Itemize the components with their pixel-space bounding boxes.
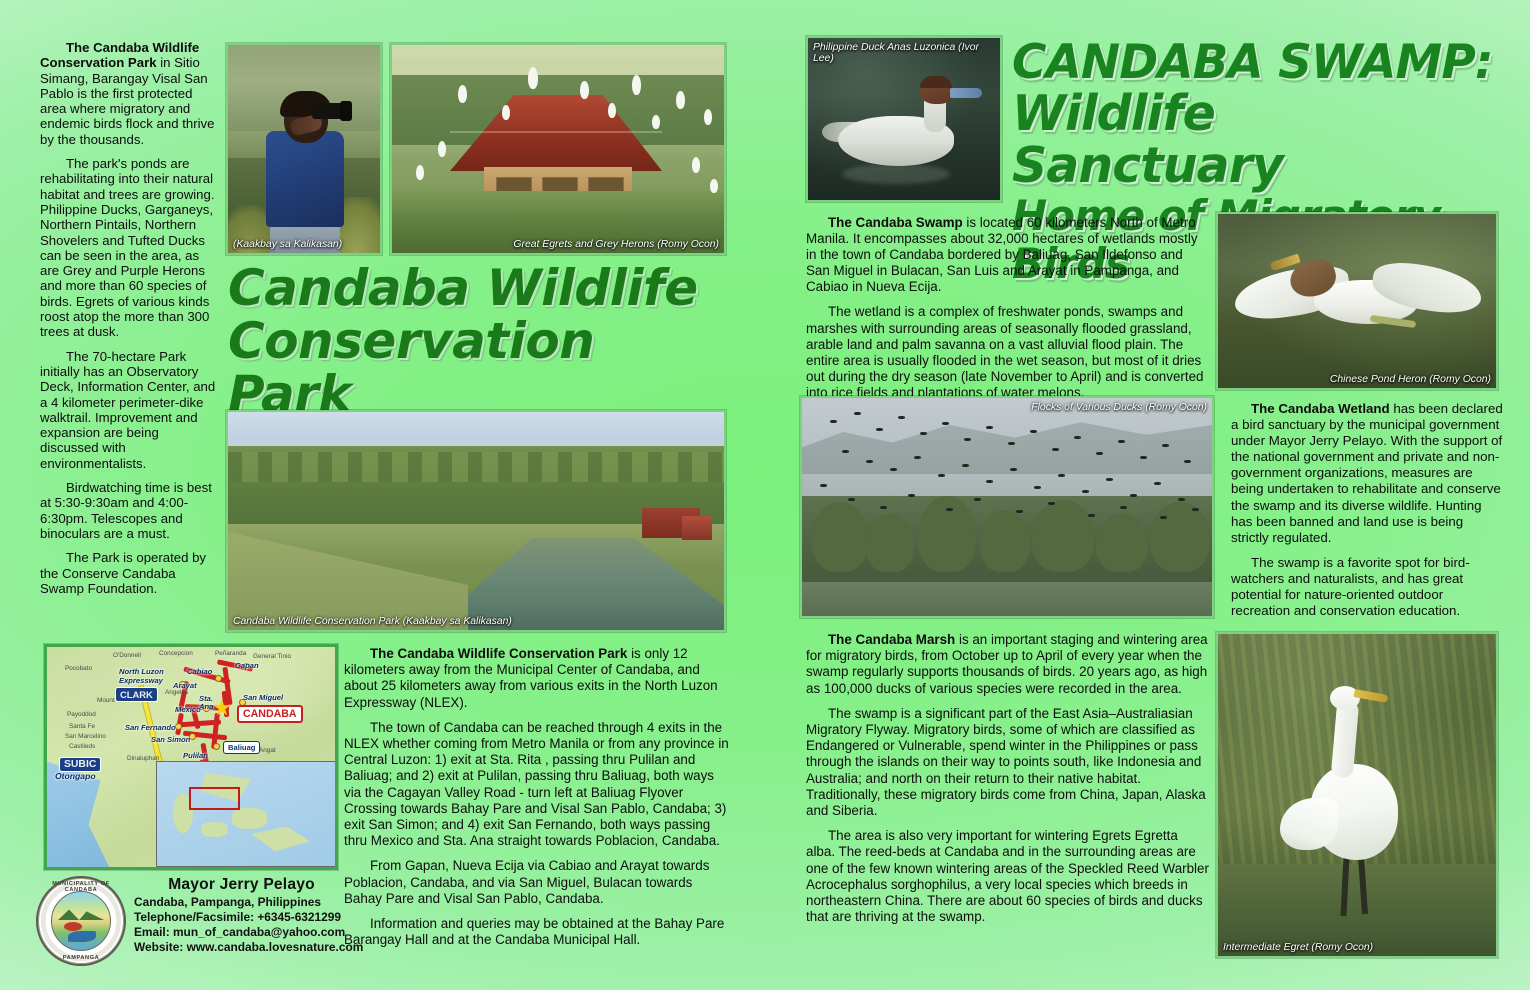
egret-bird bbox=[632, 75, 641, 95]
map-node bbox=[213, 743, 220, 750]
paragraph: The area is also very important for wint… bbox=[806, 828, 1210, 925]
map-badge-candaba: CANDABA bbox=[237, 705, 303, 723]
paragraph: Information and queries may be obtained … bbox=[344, 916, 734, 948]
paragraph-text: The park's ponds are rehabilitating into… bbox=[40, 156, 214, 339]
red-roof-building-small bbox=[682, 516, 712, 540]
paragraph: The Candaba Wildlife Conservation Park i… bbox=[344, 646, 734, 711]
inset-focus-box bbox=[189, 787, 240, 810]
tree-canopy bbox=[1150, 502, 1210, 572]
paragraph: Birdwatching time is best at 5:30-9:30am… bbox=[40, 480, 216, 541]
photo-caption: (Kaakbay sa Kalikasan) bbox=[233, 239, 375, 250]
map-label-mexico: Mexico bbox=[175, 705, 201, 714]
flying-duck bbox=[1034, 486, 1041, 489]
flying-duck bbox=[1048, 502, 1055, 505]
contact-location: Candaba, Pampanga, Philippines bbox=[134, 895, 349, 910]
map-label: Santa Fe bbox=[69, 723, 95, 730]
flying-duck bbox=[908, 494, 915, 497]
map-label-san-fernando: San Fernando bbox=[125, 723, 176, 732]
map-label-san-miguel: San Miguel bbox=[243, 693, 283, 702]
flying-duck bbox=[1088, 514, 1095, 517]
location-map[interactable]: O'Donnell Concepcion Peñaranda General T… bbox=[44, 644, 338, 870]
map-node bbox=[175, 723, 182, 730]
paragraph: The Candaba Wildlife Conservation Park i… bbox=[40, 40, 216, 147]
paragraph-text: The area is also very important for wint… bbox=[806, 828, 1209, 924]
brochure-page: The Candaba Wildlife Conservation Park i… bbox=[0, 0, 1530, 990]
tree-canopy bbox=[980, 510, 1030, 572]
map-label-gapan: Gapan bbox=[235, 661, 259, 670]
flying-duck bbox=[986, 480, 993, 483]
paragraph: The wetland is a complex of freshwater p… bbox=[806, 304, 1206, 401]
flying-duck bbox=[880, 506, 887, 509]
seal-mountains bbox=[58, 904, 104, 920]
map-badge-subic: SUBIC bbox=[59, 757, 101, 772]
flying-duck bbox=[898, 416, 905, 419]
map-label: Pocobato bbox=[65, 665, 92, 672]
paragraph-text: The 70-hectare Park initially has an Obs… bbox=[40, 349, 215, 471]
flying-duck bbox=[1120, 506, 1127, 509]
paragraph-text: Birdwatching time is best at 5:30-9:30am… bbox=[40, 480, 212, 541]
egret-bird bbox=[704, 109, 712, 125]
lead-bold: The Candaba Wetland bbox=[1251, 401, 1390, 416]
map-label-cabiao: Cabiao bbox=[187, 667, 212, 676]
flying-duck bbox=[820, 484, 827, 487]
duck-crown bbox=[920, 76, 952, 88]
egret-bird bbox=[528, 67, 538, 89]
paragraph: The swamp is a significant part of the E… bbox=[806, 706, 1210, 819]
binoculars-lens bbox=[340, 101, 352, 121]
flying-duck bbox=[1030, 430, 1037, 433]
map-label-sta-ana: Sta. Ana bbox=[199, 695, 223, 711]
flying-duck bbox=[1082, 490, 1089, 493]
directions-text: The Candaba Wildlife Conservation Park i… bbox=[344, 646, 734, 957]
title-line-1: Candaba Wildlife bbox=[228, 262, 728, 315]
flying-duck bbox=[986, 426, 993, 429]
map-label-olongapo: Otongapo bbox=[55, 771, 96, 781]
flying-duck bbox=[962, 464, 969, 467]
right-title-line-2: Wildlife Sanctuary bbox=[1012, 88, 1498, 192]
water-foreground bbox=[802, 582, 1212, 616]
flying-duck bbox=[1008, 442, 1015, 445]
map-label: Castileds bbox=[69, 743, 95, 750]
contact-email[interactable]: Email: mun_of_candaba@yahoo.com bbox=[134, 925, 349, 940]
paragraph-text: The Park is operated by the Conserve Can… bbox=[40, 550, 206, 596]
paragraph-text: From Gapan, Nueva Ecija via Cabiao and A… bbox=[344, 858, 709, 905]
boy-with-binoculars-photo: (Kaakbay sa Kalikasan) bbox=[226, 43, 382, 255]
intermediate-egret-photo: Intermediate Egret (Romy Ocon) bbox=[1216, 632, 1498, 958]
tree-canopy bbox=[1032, 500, 1094, 572]
map-label: General Tinio bbox=[253, 653, 291, 660]
marsh-migratory-text: The Candaba Marsh is an important stagin… bbox=[806, 632, 1210, 934]
philippine-duck-photo: Philippine Duck Anas Luzonica (Ivor Lee) bbox=[806, 36, 1002, 202]
seal-fish bbox=[68, 931, 96, 942]
map-label: Payoddod bbox=[67, 711, 96, 718]
tree-canopy-texture bbox=[228, 452, 724, 482]
egret-bird bbox=[710, 179, 718, 193]
philippines-inset-map bbox=[156, 761, 338, 866]
flying-duck bbox=[1058, 474, 1065, 477]
left-column-text: The Candaba Wildlife Conservation Park i… bbox=[40, 40, 216, 605]
flocks-of-ducks-photo: Flocks of Various Ducks (Romy Ocon) bbox=[800, 396, 1214, 618]
flying-duck bbox=[1010, 468, 1017, 471]
lead-bold: The Candaba Marsh bbox=[828, 632, 955, 647]
flying-duck bbox=[1130, 494, 1137, 497]
photo-caption: Great Egrets and Grey Herons (Romy Ocon) bbox=[397, 239, 719, 250]
flying-duck bbox=[876, 428, 883, 431]
map-node bbox=[215, 675, 222, 682]
wetland-sanctuary-text: The Candaba Wetland has been declared a … bbox=[1231, 401, 1503, 628]
flying-duck bbox=[1178, 498, 1185, 501]
paragraph-text: has been declared a bird sanctuary by th… bbox=[1231, 401, 1503, 545]
flying-duck bbox=[1160, 516, 1167, 519]
map-label: O'Donnell bbox=[113, 652, 141, 659]
roof-ridge bbox=[450, 131, 662, 133]
right-title-line-1: CANDABA SWAMP: bbox=[1012, 38, 1498, 88]
mayor-name: Mayor Jerry Pelayo bbox=[134, 876, 349, 894]
egret-bird bbox=[676, 91, 685, 109]
egret-bird bbox=[502, 105, 510, 120]
map-label: Concepcion bbox=[159, 650, 193, 657]
map-badge-clark: CLARK bbox=[115, 687, 158, 702]
seal-bottom-text: PAMPANGA bbox=[38, 955, 124, 961]
flying-duck bbox=[1074, 436, 1081, 439]
paragraph: The swamp is a favorite spot for bird-wa… bbox=[1231, 555, 1503, 619]
flying-duck bbox=[1106, 478, 1113, 481]
egret-bird bbox=[458, 85, 467, 103]
flying-duck bbox=[848, 498, 855, 501]
map-label: Dinaluphan bbox=[127, 755, 159, 762]
egret-bird bbox=[608, 103, 616, 118]
paragraph-text: The swamp is a significant part of the E… bbox=[806, 706, 1206, 818]
tree-canopy bbox=[866, 514, 914, 572]
flying-duck bbox=[1016, 510, 1023, 513]
swamp-description-text: The Candaba Swamp is located 60 kilomete… bbox=[806, 215, 1206, 410]
municipality-seal: MUNICIPALITY OF CANDABA PAMPANGA bbox=[36, 876, 126, 966]
nipa-hut-egrets-photo: Great Egrets and Grey Herons (Romy Ocon) bbox=[390, 43, 726, 255]
map-label-arayat: Arayat bbox=[173, 681, 197, 690]
lead-bold: The Candaba Wildlife Conservation Park bbox=[370, 646, 627, 661]
flying-duck bbox=[1118, 440, 1125, 443]
park-panorama-photo: Candaba Wildlife Conservation Park (Kaak… bbox=[226, 410, 726, 632]
paragraph: From Gapan, Nueva Ecija via Cabiao and A… bbox=[344, 858, 734, 907]
egret-bird bbox=[652, 115, 660, 129]
photo-caption: Philippine Duck Anas Luzonica (Ivor Lee) bbox=[813, 42, 995, 64]
flying-duck bbox=[1154, 482, 1161, 485]
flying-duck bbox=[914, 456, 921, 459]
contact-website[interactable]: Website: www.candaba.lovesnature.com bbox=[134, 940, 349, 955]
flying-duck bbox=[920, 432, 927, 435]
map-label: Angat bbox=[259, 747, 276, 754]
paragraph-text: Information and queries may be obtained … bbox=[344, 916, 724, 947]
flying-duck bbox=[946, 508, 953, 511]
chinese-pond-heron-photo: Chinese Pond Heron (Romy Ocon) bbox=[1216, 212, 1498, 390]
photo-caption: Candaba Wildlife Conservation Park (Kaak… bbox=[233, 616, 719, 627]
flying-duck bbox=[974, 498, 981, 501]
paragraph-text: The wetland is a complex of freshwater p… bbox=[806, 304, 1203, 399]
inset-mindanao bbox=[251, 826, 310, 851]
map-route-label-nlex-north: North Luzon Expressway bbox=[119, 667, 177, 685]
map-label: Angeles bbox=[165, 689, 188, 696]
flying-duck bbox=[964, 438, 971, 441]
seal-emblem bbox=[51, 891, 111, 951]
map-label: Peñaranda bbox=[215, 650, 246, 657]
paragraph: The 70-hectare Park initially has an Obs… bbox=[40, 349, 216, 471]
flying-duck bbox=[1052, 448, 1059, 451]
photo-caption: Chinese Pond Heron (Romy Ocon) bbox=[1223, 374, 1491, 385]
contact-block: Mayor Jerry Pelayo Candaba, Pampanga, Ph… bbox=[134, 876, 349, 955]
tree-canopy bbox=[1096, 514, 1148, 572]
map-label-pulilan: Pulilan bbox=[183, 751, 208, 760]
boy-shirt bbox=[266, 131, 344, 227]
flying-duck bbox=[938, 474, 945, 477]
egret-bird bbox=[416, 165, 424, 180]
inset-panay bbox=[201, 822, 228, 836]
contact-telephone: Telephone/Facsimile: +6345-6321299 bbox=[134, 910, 349, 925]
lead-bold: The Candaba Swamp bbox=[828, 215, 963, 230]
flying-duck bbox=[890, 468, 897, 471]
flying-duck bbox=[842, 450, 849, 453]
duck-bill bbox=[950, 88, 982, 98]
paragraph: The park's ponds are rehabilitating into… bbox=[40, 156, 216, 340]
map-label: San Marcelino bbox=[65, 733, 106, 740]
paragraph: The Candaba Marsh is an important stagin… bbox=[806, 632, 1210, 697]
paragraph: The Park is operated by the Conserve Can… bbox=[40, 550, 216, 596]
water-reflection bbox=[842, 164, 950, 184]
flying-duck bbox=[1192, 508, 1199, 511]
inset-visayas bbox=[232, 808, 267, 829]
tree-canopy bbox=[812, 502, 868, 572]
paragraph-text: The town of Candaba can be reached throu… bbox=[344, 720, 729, 848]
flying-duck bbox=[866, 460, 873, 463]
egret-bird bbox=[692, 157, 700, 173]
flying-duck bbox=[1096, 452, 1103, 455]
map-label-san-simon: San Simon bbox=[151, 735, 190, 744]
flying-duck bbox=[1140, 456, 1147, 459]
egret-bird bbox=[438, 141, 446, 157]
photo-caption: Intermediate Egret (Romy Ocon) bbox=[1223, 942, 1491, 953]
paragraph: The Candaba Swamp is located 60 kilomete… bbox=[806, 215, 1206, 295]
flying-duck bbox=[1162, 444, 1169, 447]
flying-duck bbox=[942, 422, 949, 425]
seal-leaf bbox=[64, 922, 82, 931]
paragraph: The Candaba Wetland has been declared a … bbox=[1231, 401, 1503, 546]
flying-duck bbox=[1184, 460, 1191, 463]
egret-bird bbox=[580, 81, 589, 99]
map-badge-baliuag: Baliuag bbox=[223, 741, 260, 754]
flying-duck bbox=[830, 420, 837, 423]
paragraph-text: The swamp is a favorite spot for bird-wa… bbox=[1231, 555, 1470, 618]
paragraph: The town of Candaba can be reached throu… bbox=[344, 720, 734, 850]
title-line-2: Conservation Park bbox=[228, 315, 728, 421]
photo-caption: Flocks of Various Ducks (Romy Ocon) bbox=[807, 402, 1207, 413]
